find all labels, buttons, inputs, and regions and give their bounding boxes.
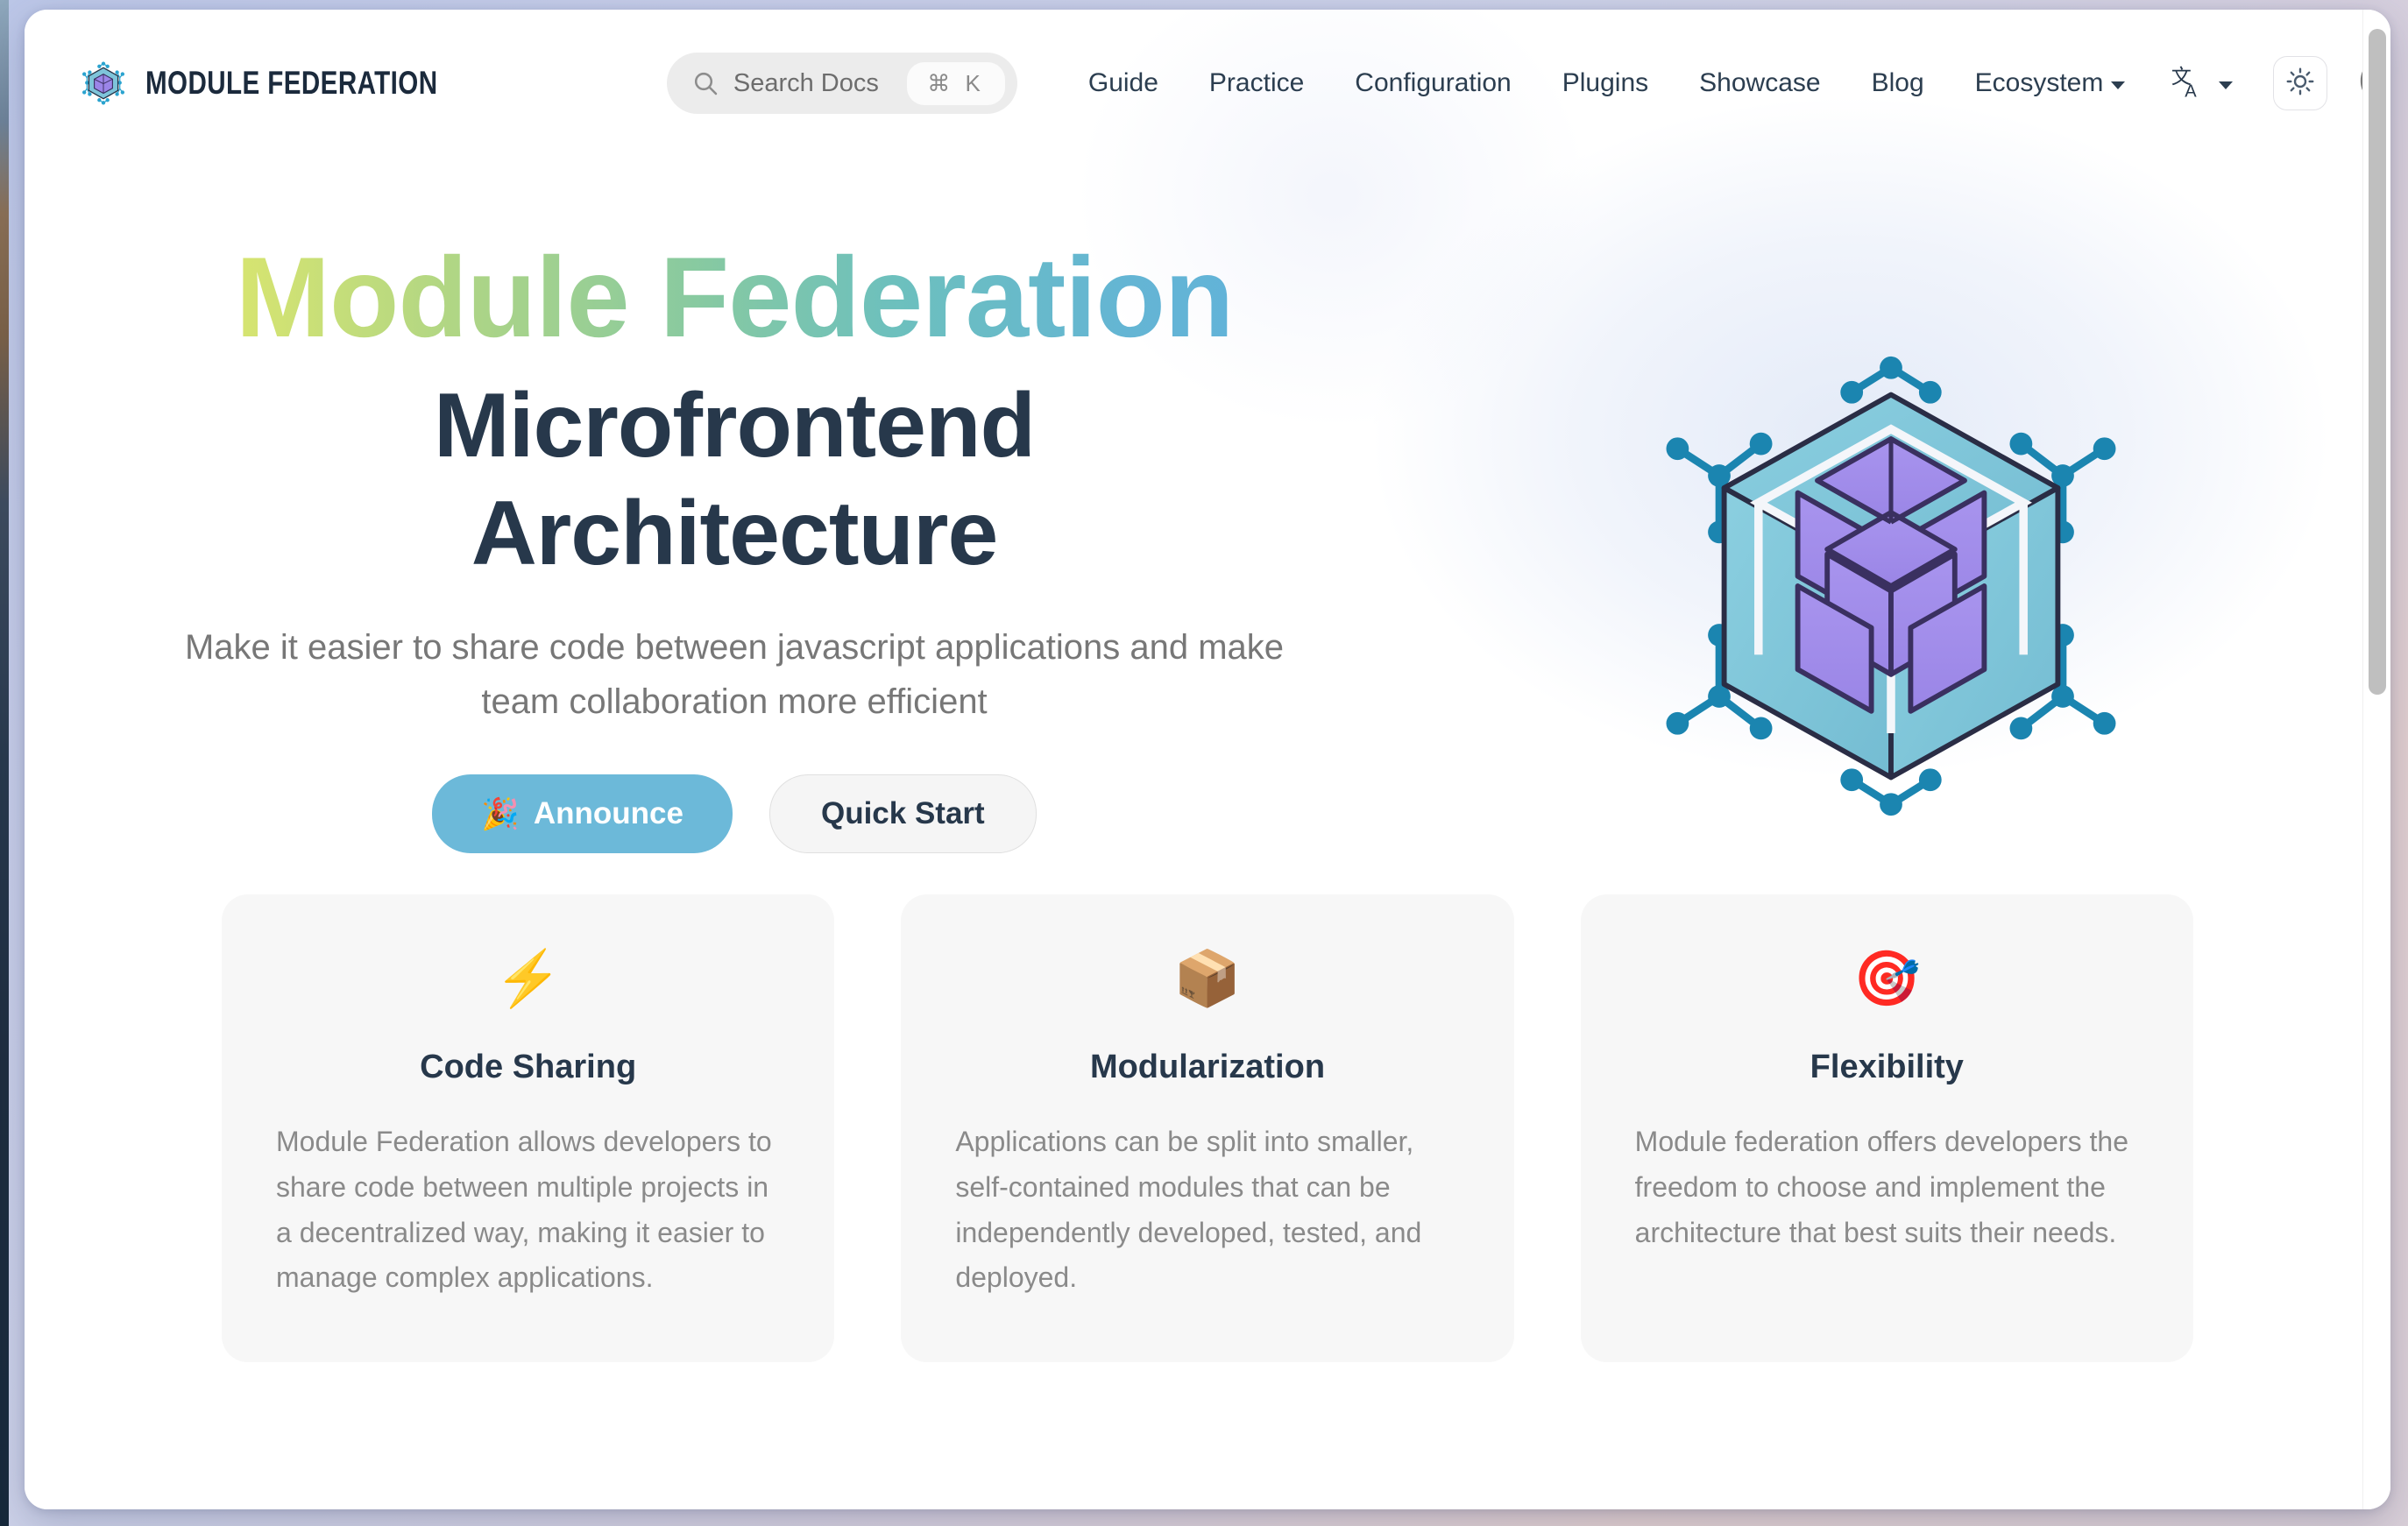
language-switcher[interactable]: 文 A bbox=[2150, 63, 2252, 103]
header-tools: 文 A bbox=[2150, 56, 2390, 111]
announce-button[interactable]: 🎉 Announce bbox=[432, 774, 733, 853]
feature-title: Modularization bbox=[955, 1049, 1459, 1086]
browser-window: MODULE FEDERATION Search Docs ⌘ K Guide … bbox=[25, 10, 2390, 1509]
vertical-scrollbar[interactable] bbox=[2362, 10, 2390, 1509]
nav-item-blog[interactable]: Blog bbox=[1846, 68, 1950, 98]
lightning-bolt-icon: ⚡ bbox=[276, 952, 780, 1007]
dart-target-icon: 🎯 bbox=[1635, 952, 2139, 1007]
hero-headline-line2: Architecture bbox=[471, 483, 998, 584]
search-input[interactable]: Search Docs ⌘ K bbox=[667, 53, 1017, 114]
chevron-down-icon bbox=[2219, 81, 2233, 89]
nav-item-configuration[interactable]: Configuration bbox=[1329, 68, 1536, 98]
features-section: ⚡ Code Sharing Module Federation allows … bbox=[25, 894, 2390, 1362]
feature-card-code-sharing: ⚡ Code Sharing Module Federation allows … bbox=[222, 894, 834, 1362]
nav-item-label: Blog bbox=[1872, 68, 1924, 98]
chevron-down-icon bbox=[2111, 81, 2125, 89]
feature-card-flexibility: 🎯 Flexibility Module federation offers d… bbox=[1581, 894, 2193, 1362]
hero-headline-line1: Microfrontend bbox=[434, 375, 1035, 477]
package-box-icon: 📦 bbox=[955, 952, 1459, 1007]
announce-button-label: Announce bbox=[534, 796, 683, 831]
party-popper-icon: 🎉 bbox=[481, 796, 520, 832]
feature-title: Flexibility bbox=[1635, 1049, 2139, 1086]
nav-item-guide[interactable]: Guide bbox=[1063, 68, 1184, 98]
nav-item-label: Plugins bbox=[1562, 68, 1648, 98]
desktop-wallpaper bbox=[0, 0, 9, 1526]
scrollbar-thumb[interactable] bbox=[2369, 29, 2386, 695]
translate-icon: 文 A bbox=[2170, 63, 2210, 103]
nav-item-label: Practice bbox=[1209, 68, 1304, 98]
search-placeholder: Search Docs bbox=[733, 69, 907, 98]
page-viewport: MODULE FEDERATION Search Docs ⌘ K Guide … bbox=[25, 10, 2390, 1509]
brand-name: MODULE FEDERATION bbox=[145, 65, 437, 102]
nav-item-plugins[interactable]: Plugins bbox=[1537, 68, 1674, 98]
sun-icon bbox=[2284, 66, 2316, 102]
nav-item-label: Configuration bbox=[1355, 68, 1511, 98]
feature-title: Code Sharing bbox=[276, 1049, 780, 1086]
nav-item-label: Showcase bbox=[1699, 68, 1820, 98]
main-navigation: Guide Practice Configuration Plugins Sho… bbox=[1063, 68, 2150, 98]
hero-actions: 🎉 Announce Quick Start bbox=[77, 774, 1392, 853]
feature-card-modularization: 📦 Modularization Applications can be spl… bbox=[901, 894, 1513, 1362]
quick-start-button[interactable]: Quick Start bbox=[769, 774, 1037, 853]
module-federation-cube-icon bbox=[81, 60, 126, 106]
hero-text-block: Module Federation Microfrontend Architec… bbox=[25, 157, 1392, 853]
svg-text:A: A bbox=[2185, 81, 2198, 101]
hero-gradient-title: Module Federation bbox=[77, 237, 1392, 358]
module-federation-hexagon-cube-illustration bbox=[1646, 341, 2136, 831]
nav-item-label: Ecosystem bbox=[1975, 68, 2104, 98]
nav-item-showcase[interactable]: Showcase bbox=[1674, 68, 1845, 98]
nav-item-ecosystem[interactable]: Ecosystem bbox=[1950, 68, 2151, 98]
search-shortcut-badge: ⌘ K bbox=[907, 62, 1005, 105]
hero-illustration bbox=[1392, 157, 2390, 831]
hero-description: Make it easier to share code between jav… bbox=[77, 620, 1392, 729]
feature-description: Applications can be split into smaller, … bbox=[955, 1120, 1459, 1301]
nav-item-label: Guide bbox=[1088, 68, 1158, 98]
site-header: MODULE FEDERATION Search Docs ⌘ K Guide … bbox=[25, 10, 2390, 157]
search-icon bbox=[691, 69, 719, 97]
brand-link[interactable]: MODULE FEDERATION bbox=[81, 60, 511, 106]
hero-headline: Microfrontend Architecture bbox=[77, 372, 1392, 587]
feature-description: Module federation offers developers the … bbox=[1635, 1120, 2139, 1255]
nav-item-practice[interactable]: Practice bbox=[1184, 68, 1329, 98]
feature-description: Module Federation allows developers to s… bbox=[276, 1120, 780, 1301]
theme-toggle-button[interactable] bbox=[2273, 56, 2327, 110]
